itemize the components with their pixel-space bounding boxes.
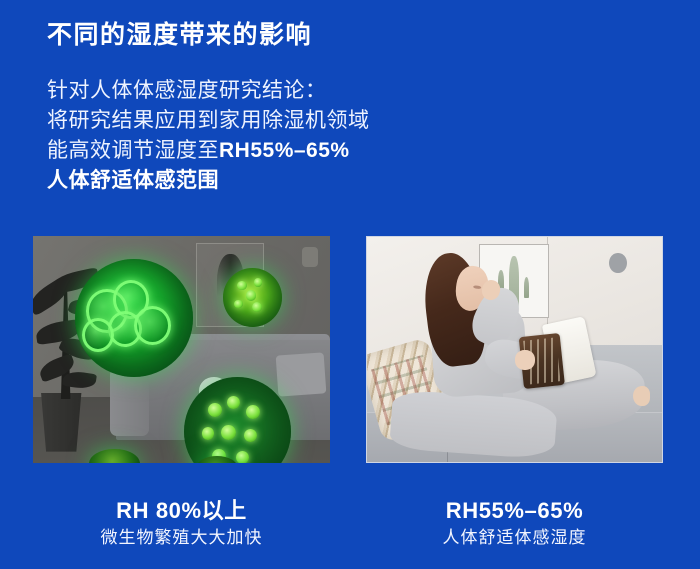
wall-speaker-icon: [302, 247, 318, 267]
caption-high-humidity: RH 80%以上 微生物繁殖大大加快: [33, 497, 330, 551]
microbe-dot: [227, 396, 240, 409]
humidity-infographic-poster: 不同的湿度带来的影响 针对人体体感湿度研究结论： 将研究结果应用到家用除湿机领域…: [0, 0, 700, 569]
caption-title: RH55%–65%: [366, 497, 663, 525]
caption-comfort-humidity: RH55%–65% 人体舒适体感湿度: [366, 497, 663, 551]
microbe-sphere-large: [75, 259, 194, 377]
microbe-sphere-hanging: [223, 268, 282, 327]
sofa-armrest: [110, 368, 149, 436]
microbe-dot: [244, 429, 257, 442]
microbe-dot: [252, 302, 262, 312]
microbe-dot: [246, 405, 260, 419]
intro-line-3-prefix: 能高效调节湿度至: [47, 139, 219, 162]
microbe-cell: [82, 318, 114, 352]
microbe-dot: [202, 427, 215, 440]
photo-comfort-humidity: [366, 236, 663, 463]
bright-living-room-scene: [367, 237, 662, 462]
intro-line-2: 将研究结果应用到家用除湿机领域: [47, 106, 370, 136]
intro-line-3: 能高效调节湿度至RH55%–65%: [47, 136, 370, 166]
microbe-dot: [254, 278, 262, 286]
caption-subtitle: 人体舒适体感湿度: [366, 525, 663, 551]
person-foot: [633, 386, 651, 406]
microbe-dot: [237, 281, 247, 290]
photo-high-humidity: [33, 236, 330, 463]
microbe-dot: [246, 290, 257, 301]
page-title: 不同的湿度带来的影响: [47, 20, 312, 51]
intro-line-1: 针对人体体感湿度研究结论：: [47, 76, 370, 106]
person-hand-holding-book: [515, 350, 536, 370]
dim-living-room-scene: [33, 236, 330, 463]
sofa-cushion: [275, 352, 325, 396]
caption-title: RH 80%以上: [33, 497, 330, 525]
microbe-dot: [236, 451, 249, 463]
intro-humidity-range: RH55%–65%: [219, 139, 350, 162]
intro-line-4: 人体舒适体感范围: [47, 166, 370, 196]
caption-subtitle: 微生物繁殖大大加快: [33, 525, 330, 551]
microbe-dot: [221, 425, 236, 440]
microbe-dot: [208, 403, 222, 417]
intro-paragraph: 针对人体体感湿度研究结论： 将研究结果应用到家用除湿机领域 能高效调节湿度至RH…: [47, 76, 370, 196]
wall-speaker-icon: [609, 253, 627, 273]
microbe-dot: [234, 300, 243, 309]
microbe-cell: [134, 306, 171, 345]
